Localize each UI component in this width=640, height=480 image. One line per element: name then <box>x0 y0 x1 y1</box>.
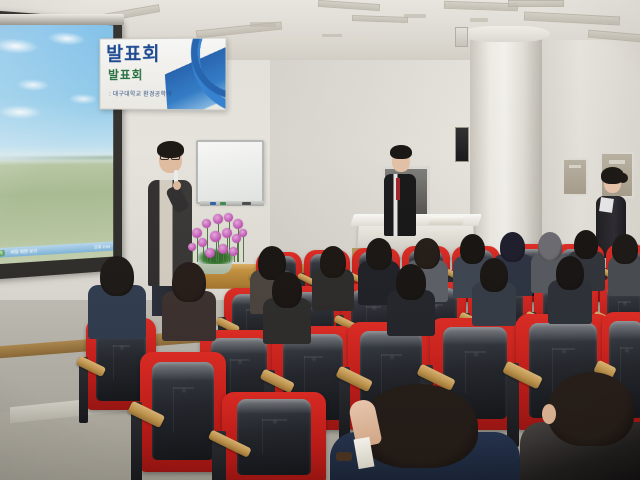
orchid-stem <box>243 237 244 262</box>
lectern-papers <box>428 216 465 225</box>
orchid-bloom <box>224 213 233 222</box>
ceiling-light-fixture <box>508 0 564 7</box>
orchid-bloom <box>218 244 228 254</box>
orchid-bloom <box>202 219 211 228</box>
event-banner: 발표회 발표회 : 대구대학교 환경공학과 <box>99 37 226 110</box>
taskbar-clock: 오후 2:34 <box>94 243 110 250</box>
ceiling-vent <box>404 14 426 18</box>
orchid-bloom <box>233 219 243 229</box>
ear <box>542 404 556 424</box>
audience-head <box>272 272 302 308</box>
orchid-bloom <box>205 248 215 258</box>
wall-notice-panel <box>562 158 588 196</box>
seat-highlight <box>443 327 508 345</box>
audience-head <box>500 232 525 262</box>
wallpaper-horizon <box>0 156 113 160</box>
audience-head <box>396 264 426 300</box>
taskbar-start-button: 시작 <box>0 249 5 256</box>
audience-head <box>612 234 638 264</box>
projected-taskbar: 시작 바탕 화면 보기 오후 2:34 <box>0 242 113 259</box>
wall-speaker-icon <box>455 127 469 162</box>
banner-swoosh-graphic <box>162 37 227 110</box>
taskbar-items: 바탕 화면 보기 <box>11 247 37 255</box>
banner-subtitle: 발표회 <box>108 69 143 81</box>
audience-head <box>100 256 134 296</box>
orchid-bloom <box>222 228 232 238</box>
audience-head <box>366 238 392 270</box>
audience-head <box>538 232 562 261</box>
orchid-stem <box>234 256 235 262</box>
orchid-bloom <box>188 243 196 251</box>
banner-title: 발표회 <box>106 45 160 64</box>
orchid-stem <box>192 251 193 262</box>
screen-roller-housing <box>0 14 124 25</box>
audience-head <box>172 262 206 302</box>
wristwatch-icon <box>336 452 352 461</box>
suit-torso <box>384 174 416 236</box>
presenter-hand <box>173 181 181 190</box>
marker-green-icon <box>220 202 226 205</box>
leather-jacket-head <box>548 372 634 446</box>
column-capital <box>462 26 550 42</box>
ceiling-vent <box>470 18 488 22</box>
screen-glare <box>0 17 113 265</box>
orchid-bloom <box>229 247 238 256</box>
seminar-photo: 시작 바탕 화면 보기 오후 2:34 발표회 발표회 : 대구대학교 환경공학… <box>0 0 640 480</box>
auditorium-seat <box>222 392 326 480</box>
audience-head <box>480 258 508 292</box>
suit-hair <box>390 145 412 159</box>
banner-organization: : 대구대학교 환경공학과 <box>109 89 172 98</box>
orchid-stem <box>218 224 219 262</box>
orchid-stem <box>203 247 204 262</box>
red-necktie <box>396 178 400 200</box>
seat-highlight <box>152 362 214 381</box>
ceiling-vent <box>322 34 342 37</box>
projected-desktop-wallpaper: 시작 바탕 화면 보기 오후 2:34 <box>0 17 113 265</box>
orchid-stem <box>223 254 224 262</box>
audience-head <box>556 256 584 290</box>
seat-highlight <box>237 399 312 414</box>
audience-head <box>320 246 346 278</box>
ceiling-speaker-icon <box>455 27 468 47</box>
audience-head <box>414 238 440 269</box>
orchid-stem <box>216 242 217 262</box>
orchid-bloom <box>210 231 221 242</box>
woman-hair-bun <box>618 173 628 183</box>
orchid-bloom <box>192 228 202 238</box>
audience-head <box>574 230 598 259</box>
whiteboard <box>196 140 264 204</box>
orchid-stem <box>210 258 211 262</box>
orchid-bloom <box>198 238 207 247</box>
eraser-icon <box>242 202 251 205</box>
presenter-hair <box>157 141 184 158</box>
ceiling-vent <box>250 22 276 27</box>
seat-highlight <box>529 323 597 342</box>
marker-blue-icon <box>210 202 216 205</box>
orchid-bloom <box>213 214 223 224</box>
woman-collar <box>599 197 614 213</box>
seat-highlight <box>609 321 640 340</box>
audience-head <box>460 234 485 264</box>
orchid-bloom <box>239 229 247 237</box>
